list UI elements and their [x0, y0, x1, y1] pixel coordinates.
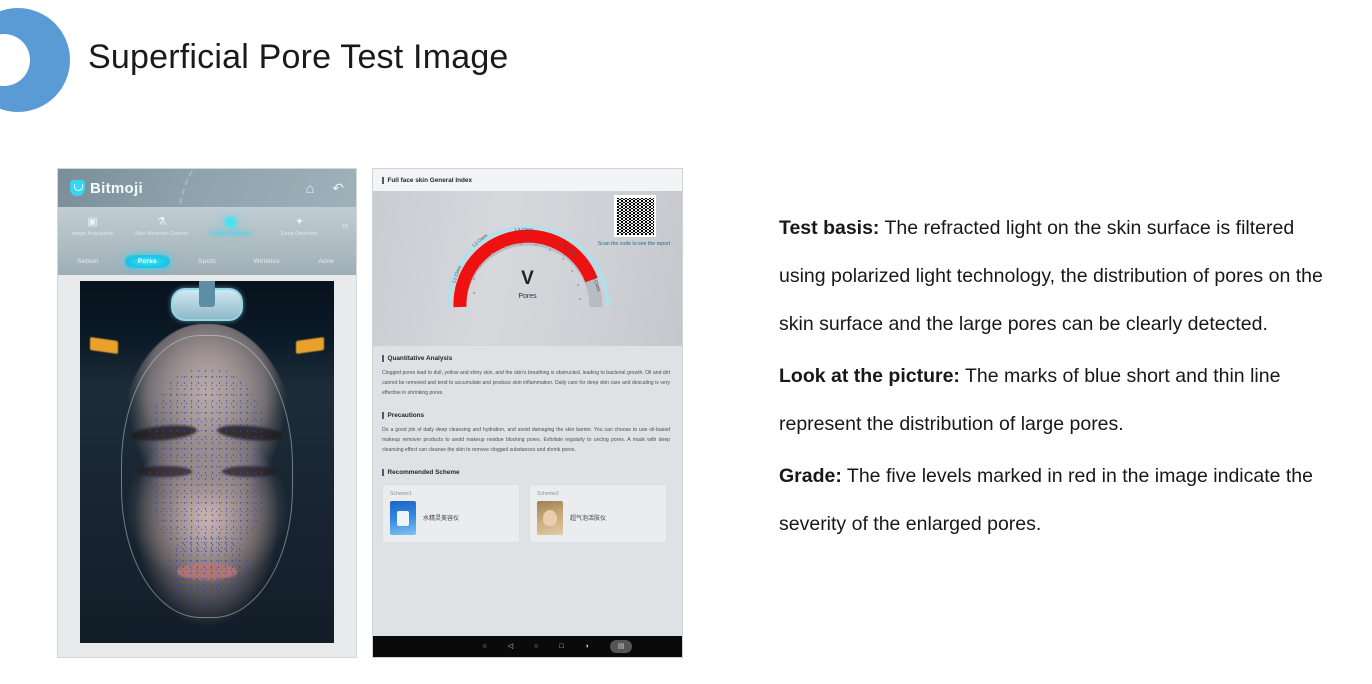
- nav-item-surface-detection[interactable]: ▤ Surface Detection: [196, 217, 265, 237]
- page-title: Superficial Pore Test Image: [88, 38, 509, 77]
- tab-pores-label: Pores: [125, 255, 170, 268]
- shield-logo-icon: [70, 180, 85, 196]
- section-body: Do a good job of daily deep cleansing an…: [382, 426, 670, 456]
- qr-code[interactable]: [614, 195, 656, 237]
- deep-detection-icon: ✦: [295, 217, 304, 228]
- device-screenshot-left: Bitmoji ⌂ ↶ ▣ Image Acquisition ⚗ Skin M…: [57, 168, 357, 658]
- gauge-center-readout: V Pores: [442, 269, 614, 300]
- tab-sebum[interactable]: Sebum: [58, 258, 118, 265]
- brand-logo-icon: [0, 8, 70, 112]
- nav-item-skin-moisture-content[interactable]: ⚗ Skin Moisture Content: [127, 217, 196, 237]
- back-triangle-icon[interactable]: ◁: [508, 643, 513, 650]
- surface-detection-icon: ▤: [225, 217, 235, 228]
- record-icon[interactable]: ○: [483, 643, 487, 650]
- section-recommended-scheme: Recommended Scheme Scheme1 水精灵美容仪 Scheme…: [373, 460, 682, 547]
- nav-label: 3D: [342, 224, 349, 230]
- tab-wrinkles[interactable]: Wrinkles: [237, 258, 297, 265]
- back-icon[interactable]: ↶: [332, 181, 344, 195]
- scheme-card-list: Scheme1 水精灵美容仪 Scheme2 超气泡活肤仪: [382, 484, 670, 543]
- grade-label: Grade:: [779, 465, 842, 487]
- screenshot-icon[interactable]: ◑: [585, 643, 589, 650]
- android-navigation-bar: ○ ◁ ○ □ ◑ ▤: [373, 636, 682, 657]
- app-nav-row: ▣ Image Acquisition ⚗ Skin Moisture Cont…: [58, 207, 356, 247]
- section-heading: Precautions: [382, 412, 670, 419]
- page-header: Superficial Pore Test Image: [0, 0, 1372, 130]
- home-icon[interactable]: ⌂: [306, 181, 314, 195]
- gauge-class-l3: L3 Class: [515, 227, 534, 232]
- scheme-id: Scheme2: [537, 491, 659, 497]
- report-header-title: Full face skin General Index: [382, 177, 472, 184]
- face-photo: [80, 281, 334, 643]
- look-at-picture-label: Look at the picture:: [779, 365, 960, 387]
- section-bar-icon: [382, 355, 384, 362]
- nav-item-deep-detection[interactable]: ✦ Deep Detection: [265, 217, 334, 237]
- section-heading-text: Recommended Scheme: [388, 469, 460, 476]
- scheme-row: 水精灵美容仪: [390, 501, 512, 535]
- lamp-right-icon: [296, 337, 324, 354]
- report-header-text: Full face skin General Index: [388, 177, 473, 184]
- menu-icon[interactable]: ▤: [610, 640, 633, 653]
- grade-text: The five levels marked in red in the ima…: [779, 465, 1313, 535]
- section-heading: Quantitative Analysis: [382, 355, 670, 362]
- section-body: Clogged pores lead to dull, yellow and s…: [382, 369, 670, 399]
- forehead-fixture: [171, 288, 242, 321]
- description-column: Test basis: The refracted light on the s…: [779, 205, 1345, 553]
- lamp-left-icon: [90, 337, 118, 354]
- scheme-product-name: 超气泡活肤仪: [570, 513, 606, 522]
- scheme-id: Scheme1: [390, 491, 512, 497]
- nav-item-3d[interactable]: 3D: [334, 224, 356, 230]
- section-heading: Recommended Scheme: [382, 469, 670, 476]
- pore-marker-overlay: [146, 368, 268, 556]
- pore-marker-overlay-chin: [166, 534, 247, 606]
- product-thumbnail: [537, 501, 563, 535]
- report-header: Full face skin General Index: [373, 169, 682, 191]
- app-topbar: Bitmoji ⌂ ↶: [58, 169, 356, 207]
- paragraph-test-basis: Test basis: The refracted light on the s…: [779, 205, 1345, 349]
- section-bar-icon: [382, 412, 384, 419]
- paragraph-grade: Grade: The five levels marked in red in …: [779, 453, 1345, 549]
- section-bar-icon: [382, 177, 384, 184]
- camera-icon: ▣: [87, 217, 97, 228]
- scheme-product-name: 水精灵美容仪: [423, 513, 459, 522]
- topbar-icon-group: ⌂ ↶: [306, 181, 344, 195]
- face-analysis-viewport: [58, 275, 356, 658]
- section-bar-icon: [382, 469, 384, 476]
- moisture-icon: ⚗: [157, 217, 167, 228]
- section-heading-text: Quantitative Analysis: [388, 355, 453, 362]
- home-circle-icon[interactable]: ○: [534, 643, 538, 650]
- tab-acne[interactable]: Acne: [296, 258, 356, 265]
- tab-pores[interactable]: Pores: [118, 255, 178, 268]
- nav-label: Deep Detection: [281, 231, 318, 237]
- scheme-row: 超气泡活肤仪: [537, 501, 659, 535]
- recents-square-icon[interactable]: □: [559, 643, 563, 650]
- tab-spots[interactable]: Spots: [177, 258, 237, 265]
- section-precautions: Precautions Do a good job of daily deep …: [373, 403, 682, 460]
- brand-name: Bitmoji: [90, 180, 143, 197]
- gauge-grade-value: V: [442, 269, 614, 288]
- gauge-metric-label: Pores: [442, 293, 614, 300]
- nav-item-image-acquisition[interactable]: ▣ Image Acquisition: [58, 217, 127, 237]
- scheme-card[interactable]: Scheme2 超气泡活肤仪: [529, 484, 667, 543]
- nav-label: Surface Detection: [209, 231, 252, 237]
- gauge-section: Scan the code to see the report L1 Class…: [373, 191, 682, 346]
- nav-label: Image Acquisition: [71, 231, 113, 237]
- qr-code-image: [617, 198, 654, 235]
- scheme-card[interactable]: Scheme1 水精灵美容仪: [382, 484, 520, 543]
- test-basis-label: Test basis:: [779, 217, 879, 239]
- pores-gauge-chart: L1 Class L2 Class L3 Class L4 Class L5 C…: [442, 213, 614, 309]
- device-screenshot-report: Full face skin General Index Scan the co…: [372, 168, 683, 658]
- paragraph-look-at-picture: Look at the picture: The marks of blue s…: [779, 353, 1345, 449]
- nav-label: Skin Moisture Content: [135, 231, 188, 237]
- app-tab-row: Sebum Pores Spots Wrinkles Acne: [58, 247, 356, 275]
- section-heading-text: Precautions: [388, 412, 425, 419]
- section-quantitative-analysis: Quantitative Analysis Clogged pores lead…: [373, 346, 682, 403]
- product-thumbnail: [390, 501, 416, 535]
- app-brand: Bitmoji: [70, 180, 143, 197]
